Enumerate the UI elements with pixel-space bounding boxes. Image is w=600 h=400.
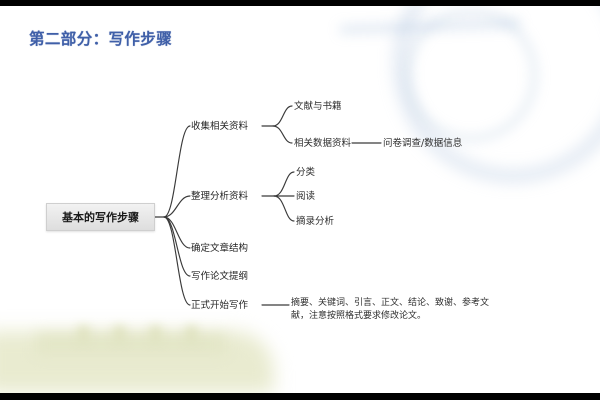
node-label: 整理分析资料: [191, 191, 248, 202]
letterbox-bar-top: [0, 0, 600, 6]
node-label: 摘要、关键词、引言、正文、结论、致谢、参考文献，注意按照格式要求修改论文。: [291, 298, 489, 321]
node-label: 写作论文提纲: [191, 271, 248, 282]
letterbox-bar-bottom: [0, 393, 600, 400]
mindmap-root-label: 基本的写作步骤: [62, 209, 139, 225]
node-label: 分类: [296, 167, 315, 178]
mindmap-node-determine-structure[interactable]: 确定文章结构: [191, 242, 248, 255]
connector-root-to-b1: [164, 126, 190, 217]
page-title: 第二部分：写作步骤: [29, 27, 172, 49]
node-label: 收集相关资料: [191, 121, 248, 132]
mindmap-node-survey-data-info[interactable]: 问卷调查/数据信息: [383, 137, 462, 150]
mindmap-node-collect-materials[interactable]: 收集相关资料: [191, 120, 248, 133]
node-label: 阅读: [296, 191, 315, 202]
mindmap-node-writing-detail[interactable]: 摘要、关键词、引言、正文、结论、致谢、参考文献，注意按照格式要求修改论文。: [291, 297, 491, 322]
mindmap-node-literature-books[interactable]: 文献与书籍: [294, 100, 342, 113]
node-label: 确定文章结构: [191, 243, 248, 254]
connector-root-to-b5: [164, 217, 190, 305]
connector-b1-to-c2: [273, 126, 292, 143]
mindmap-root-node[interactable]: 基本的写作步骤: [46, 203, 155, 231]
connector-b2-to-c3: [274, 196, 294, 221]
node-label: 文献与书籍: [294, 101, 342, 112]
connector-b2-to-c1: [274, 172, 294, 196]
mindmap-node-read[interactable]: 阅读: [296, 190, 315, 203]
node-label: 摘录分析: [296, 216, 334, 227]
node-label: 相关数据资料: [294, 138, 351, 149]
mindmap-node-excerpt-analysis[interactable]: 摘录分析: [296, 215, 334, 228]
node-label: 正式开始写作: [191, 300, 248, 311]
connector-b1-to-c1: [273, 106, 292, 126]
mindmap-node-classify[interactable]: 分类: [296, 166, 315, 179]
mindmap-node-write-outline[interactable]: 写作论文提纲: [191, 270, 248, 283]
mindmap-node-organize-analyze[interactable]: 整理分析资料: [191, 190, 248, 203]
mindmap-node-related-data[interactable]: 相关数据资料: [294, 137, 351, 150]
slide-canvas: 第二部分：写作步骤 基本的写作步骤: [0, 0, 600, 400]
node-label: 问卷调查/数据信息: [383, 138, 462, 149]
mindmap-node-start-writing[interactable]: 正式开始写作: [191, 299, 248, 312]
